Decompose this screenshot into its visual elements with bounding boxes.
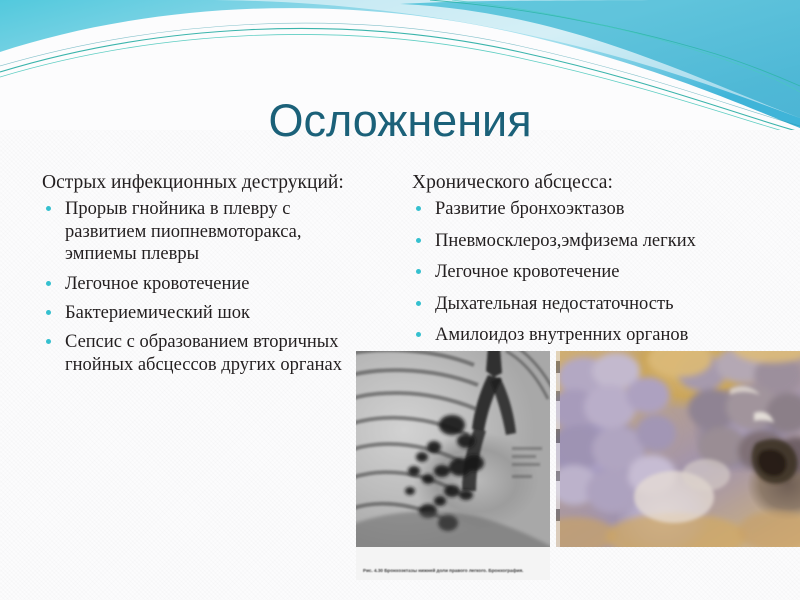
slide-canvas: Осложнения Острых инфекционных деструкци… [0,0,800,600]
gross-specimen-image [556,351,800,547]
list-item: Пневмосклероз,эмфизема легких [412,230,792,252]
list-item-text: Амилоидоз внутренних органов [435,325,688,345]
scan-edge-artifact [556,351,560,547]
bullet-dot-icon [416,301,421,306]
bullet-dot-icon [416,269,421,274]
bullet-dot-icon [46,281,51,286]
slide-title: Осложнения [0,98,800,143]
list-item-text: Развитие бронхоэктазов [435,199,625,219]
list-item: Прорыв гнойника в плевру с развитием пио… [42,198,362,265]
list-item-text: Легочное кровотечение [435,262,620,282]
bullet-dot-icon [46,206,51,211]
left-content-column: Острых инфекционных деструкций: Прорыв г… [42,171,362,383]
wave-filament-4 [430,0,800,86]
list-item: Сепсис с образованием вторичных гнойных … [42,331,362,376]
list-item-text: Пневмосклероз,эмфизема легких [435,231,696,251]
bullet-dot-icon [416,332,421,337]
list-item-text: Прорыв гнойника в плевру с развитием пио… [65,199,301,264]
list-item-text: Сепсис с образованием вторичных гнойных … [65,332,342,374]
list-item: Развитие бронхоэктазов [412,198,792,220]
scan-artifact-text [512,447,542,478]
list-item-text: Бактериемический шок [65,303,250,323]
left-column-heading: Острых инфекционных деструкций: [42,171,362,194]
list-item: Бактериемический шок [42,302,362,324]
left-bullet-list: Прорыв гнойника в плевру с развитием пио… [42,198,362,376]
wave-filament-5 [452,0,800,92]
list-item: Дыхательная недостаточность [412,293,792,315]
xray-rendering [356,351,550,547]
rib-arcs-right [506,351,550,399]
gross-specimen-rendering [556,351,800,547]
bullet-dot-icon [46,310,51,315]
list-item-text: Легочное кровотечение [65,274,250,294]
list-item: Легочное кровотечение [42,273,362,295]
list-item: Амилоидоз внутренних органов [412,324,792,346]
bullet-dot-icon [46,339,51,344]
bullet-dot-icon [416,238,421,243]
diaphragm-shadow [356,511,550,547]
figure-caption: Рис. 4.30 Бронхоэктазы нижней доли право… [363,567,541,574]
right-content-column: Хронического абсцесса: Развитие бронхоэк… [412,171,792,355]
list-item: Легочное кровотечение [412,261,792,283]
xray-bronchography-image: Рис. 4.30 Бронхоэктазы нижней доли право… [356,351,550,580]
bullet-dot-icon [416,206,421,211]
xray-canvas [356,351,550,547]
right-column-heading: Хронического абсцесса: [412,171,792,194]
list-item-text: Дыхательная недостаточность [435,294,674,314]
right-bullet-list: Развитие бронхоэктазов Пневмосклероз,эмф… [412,198,792,346]
